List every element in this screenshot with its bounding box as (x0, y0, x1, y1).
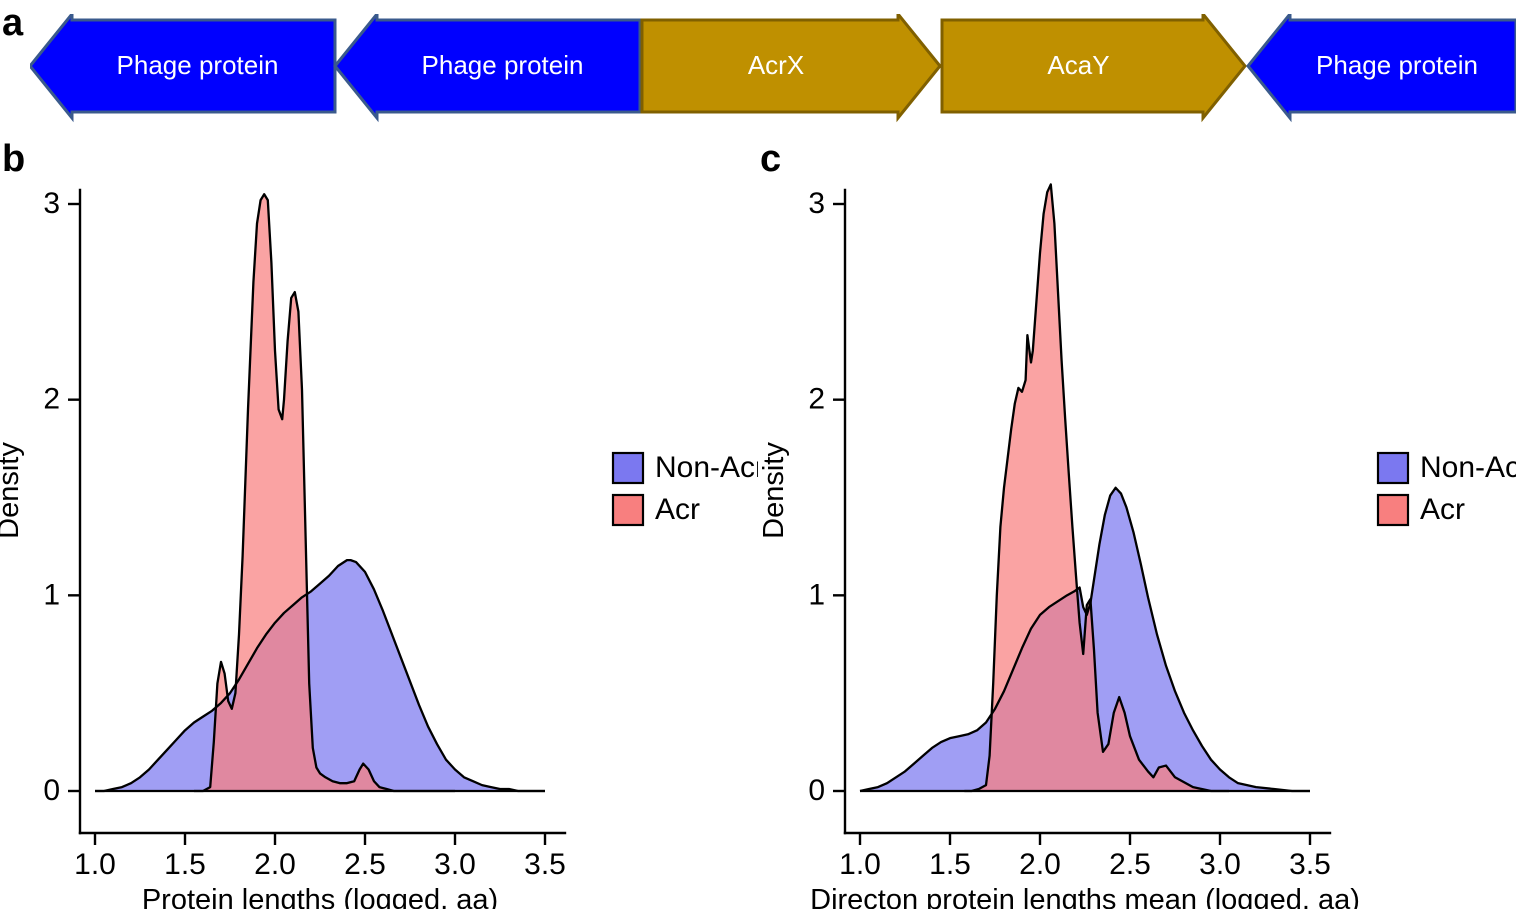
y-tick-label: 0 (808, 774, 825, 807)
x-tick-label: 2.5 (344, 848, 386, 881)
y-tick-label: 1 (808, 578, 825, 611)
gene-arrow-label-5: Phage protein (1316, 50, 1478, 80)
x-tick-label: 3.0 (1199, 848, 1241, 881)
y-tick-label: 0 (43, 774, 60, 807)
legend-label-non-acr: Non-Acr (1420, 451, 1516, 484)
legend-label-non-acr: Non-Acr (655, 451, 758, 484)
density-plot-c-svg: 01231.01.52.02.53.03.5Directon protein l… (758, 150, 1516, 909)
density-plot-b-svg: 01231.01.52.02.53.03.5Protein lengths (l… (0, 150, 758, 909)
plot-c-root: 01231.01.52.02.53.03.5Directon protein l… (758, 184, 1516, 909)
legend-label-acr: Acr (1420, 493, 1465, 526)
density-plot-b: 01231.01.52.02.53.03.5Protein lengths (l… (0, 150, 758, 909)
gene-arrow-label-4: AcaY (1047, 50, 1109, 80)
y-axis-title: Density (758, 442, 790, 539)
x-tick-label: 1.5 (164, 848, 206, 881)
x-tick-label: 3.5 (524, 848, 566, 881)
y-tick-label: 3 (808, 187, 825, 220)
legend-swatch-non-acr[interactable] (613, 453, 643, 483)
y-tick-label: 3 (43, 187, 60, 220)
x-tick-label: 3.0 (434, 848, 476, 881)
legend-swatch-acr[interactable] (1378, 495, 1408, 525)
x-tick-label: 1.5 (929, 848, 971, 881)
gene-arrow-label-3: AcrX (748, 50, 804, 80)
gene-arrow-svg: Phage proteinPhage proteinAcrXAcaYPhage … (30, 14, 1516, 124)
x-tick-label: 3.5 (1289, 848, 1331, 881)
x-tick-label: 1.0 (839, 848, 881, 881)
plot-b-root: 01231.01.52.02.53.03.5Protein lengths (l… (0, 187, 758, 909)
gene-arrow-label-1: Phage protein (117, 50, 279, 80)
x-tick-label: 2.0 (254, 848, 296, 881)
x-tick-label: 2.0 (1019, 848, 1061, 881)
x-tick-label: 2.5 (1109, 848, 1151, 881)
legend-label-acr: Acr (655, 493, 700, 526)
density-plot-c: 01231.01.52.02.53.03.5Directon protein l… (758, 150, 1516, 909)
y-axis-title: Density (0, 442, 25, 539)
legend-swatch-non-acr[interactable] (1378, 453, 1408, 483)
panel-letter-a: a (2, 4, 23, 42)
gene-arrow-label-2: Phage protein (422, 50, 584, 80)
x-axis-title: Protein lengths (logged, aa) (142, 884, 498, 909)
y-tick-label: 2 (43, 383, 60, 416)
x-tick-label: 1.0 (74, 848, 116, 881)
x-axis-title: Directon protein lengths mean (logged, a… (810, 884, 1360, 909)
legend-swatch-acr[interactable] (613, 495, 643, 525)
figure-container: a Phage proteinPhage proteinAcrXAcaYPhag… (0, 0, 1516, 909)
gene-arrow-track: Phage proteinPhage proteinAcrXAcaYPhage … (30, 14, 1516, 124)
y-tick-label: 2 (808, 383, 825, 416)
y-tick-label: 1 (43, 578, 60, 611)
gene-arrow-group: Phage proteinPhage proteinAcrXAcaYPhage … (30, 14, 1516, 118)
